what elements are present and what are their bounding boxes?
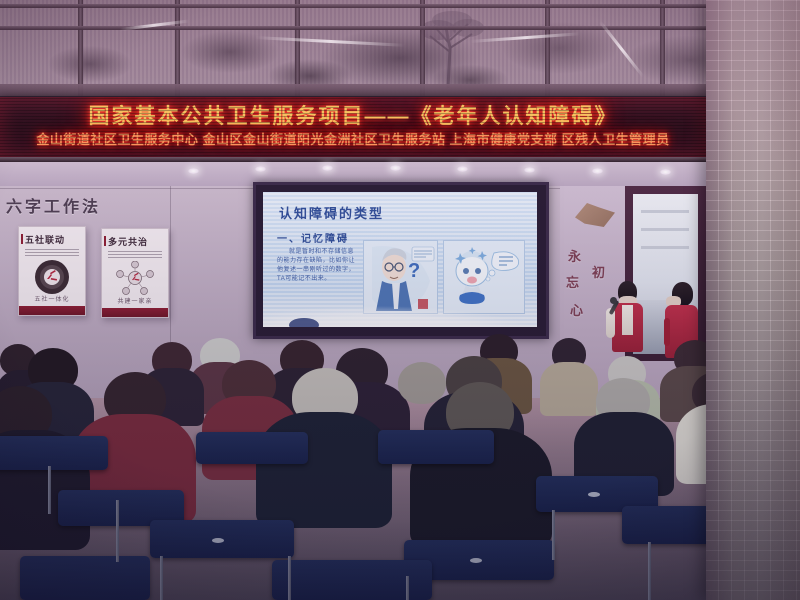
microphone-head-icon bbox=[610, 297, 617, 304]
chair-backrest bbox=[0, 436, 108, 470]
audience-torso bbox=[540, 362, 598, 416]
led-banner-line2: 金山街道社区卫生服务中心 金山区金山街道阳光金洲社区卫生服务站 上海市健康党支部… bbox=[0, 129, 706, 148]
photo-scene: 国家基本公共卫生服务项目——《老年人认知障碍》 金山街道社区卫生服务中心 金山区… bbox=[0, 0, 800, 600]
chair-label-tag bbox=[470, 558, 482, 563]
column-light-tint bbox=[706, 0, 800, 600]
slide-subtitle: 一、记忆障碍 bbox=[277, 230, 349, 245]
poster-title: 多元共治 bbox=[108, 235, 148, 248]
chair-label-tag bbox=[212, 538, 224, 543]
ceiling-downlight bbox=[322, 165, 333, 171]
wall-heading-six-character-method: 六字工作法 bbox=[6, 193, 101, 217]
presentation-slide: 认知障碍的类型 一、记忆障碍 就是暂时和不存储信息的能力存在缺陷，比如你让他复述… bbox=[263, 192, 537, 327]
ceiling-downlight bbox=[524, 167, 535, 173]
audience-torso bbox=[256, 412, 392, 528]
led-banner: 国家基本公共卫生服务项目——《老年人认知障碍》 金山街道社区卫生服务中心 金山区… bbox=[0, 97, 706, 159]
chair-backrest bbox=[196, 432, 308, 464]
chair-label-tag bbox=[588, 492, 600, 497]
mural-tree-illustration bbox=[390, 8, 510, 88]
chair-leg bbox=[406, 576, 409, 600]
chair-leg bbox=[288, 556, 291, 600]
chair-leg bbox=[160, 556, 163, 600]
glass-mullion bbox=[175, 0, 180, 96]
glass-mullion bbox=[295, 0, 300, 96]
audience-head bbox=[398, 362, 446, 404]
slide-bottom-badge bbox=[289, 318, 319, 327]
calligraphy-char-1: 永 bbox=[568, 246, 582, 265]
landscape-mural bbox=[0, 0, 800, 96]
slide-body-text: 就是暂时和不存储信息的能力存在缺陷，比如你让他复述一串刚听过的数字，TA可能记不… bbox=[277, 248, 355, 284]
ceiling-downlight bbox=[457, 166, 468, 172]
svg-text:?: ? bbox=[408, 260, 420, 282]
railing-base bbox=[0, 84, 800, 96]
wall-poster-multi-governance: 多元共治 共建一家亲 bbox=[101, 228, 169, 318]
glass-mullion bbox=[78, 0, 83, 96]
presenter-speaker-shirt bbox=[622, 305, 633, 335]
glass-mullion bbox=[420, 0, 425, 96]
party-emblem-icon bbox=[34, 259, 70, 295]
party-emblem-icon bbox=[115, 261, 155, 295]
led-banner-line1: 国家基本公共卫生服务项目——《老年人认知障碍》 bbox=[0, 100, 706, 130]
poster-body-lines bbox=[25, 247, 79, 256]
chair-leg bbox=[48, 466, 51, 514]
calligraphy-char-2: 忘 bbox=[566, 272, 580, 291]
ceiling-downlight bbox=[188, 168, 199, 174]
calligraphy-char-3: 初 bbox=[592, 262, 606, 281]
poster-caption: 共建一家亲 bbox=[102, 296, 168, 305]
chair-backrest bbox=[378, 430, 494, 464]
poster-footer-bar bbox=[19, 306, 85, 315]
inner-room-shelf bbox=[641, 228, 689, 231]
poster-footer-bar bbox=[102, 308, 168, 317]
slide-title: 认知障碍的类型 bbox=[279, 203, 384, 222]
projection-screen: 认知障碍的类型 一、记忆障碍 就是暂时和不存储信息的能力存在缺陷，比如你让他复述… bbox=[253, 182, 549, 339]
glass-mullion bbox=[660, 0, 665, 96]
chair-leg bbox=[648, 542, 651, 600]
calligraphy-char-4: 心 bbox=[570, 300, 584, 319]
ceiling-downlight bbox=[592, 168, 603, 174]
poster-title: 五社联动 bbox=[25, 233, 65, 246]
ceiling-downlight bbox=[255, 166, 266, 172]
poster-caption: 五社一体化 bbox=[19, 294, 85, 303]
presenter-volunteer-arm bbox=[664, 318, 670, 346]
glass-rail-top bbox=[0, 4, 800, 8]
stone-mosaic-column bbox=[706, 0, 800, 600]
ceiling-downlight bbox=[390, 165, 401, 171]
inner-room-shelf bbox=[641, 210, 689, 213]
chair-leg bbox=[116, 500, 119, 562]
chair-leg bbox=[552, 510, 555, 560]
chair-backrest bbox=[20, 556, 150, 600]
ceiling-downlight bbox=[660, 169, 671, 175]
poster-body-lines bbox=[108, 249, 162, 258]
glass-mullion bbox=[545, 0, 550, 96]
wall-poster-five-society: 五社联动 五社一体化 bbox=[18, 226, 86, 316]
inner-room-shelf bbox=[641, 246, 689, 249]
